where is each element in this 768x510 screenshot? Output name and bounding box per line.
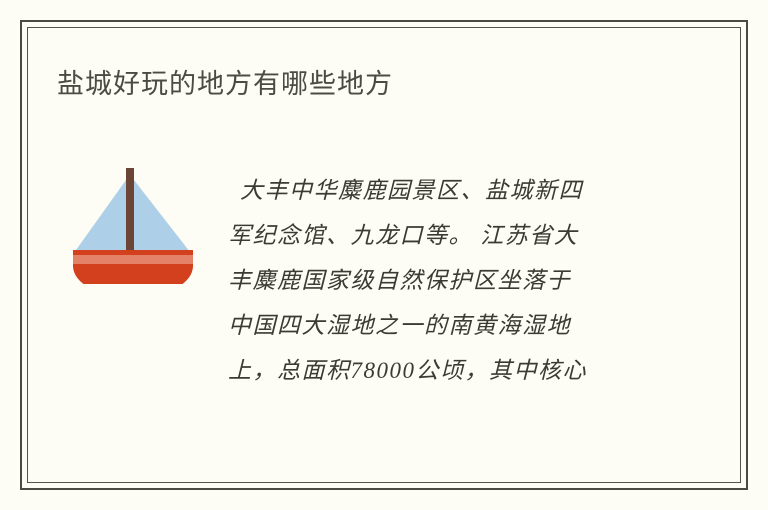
- body-line: 上，总面积78000公顷，其中核心: [228, 348, 660, 393]
- body-line: 丰麋鹿国家级自然保护区坐落于: [228, 258, 660, 303]
- body-line: 军纪念馆、九龙口等。 江苏省大: [228, 213, 660, 258]
- article-body: 大丰中华麋鹿园景区、盐城新四 军纪念馆、九龙口等。 江苏省大 丰麋鹿国家级自然保…: [228, 168, 660, 393]
- body-line: 中国四大湿地之一的南黄海湿地: [228, 303, 660, 348]
- sailboat-icon: [68, 162, 198, 284]
- body-line: 大丰中华麋鹿园景区、盐城新四: [228, 168, 660, 213]
- answer-card: 盐城好玩的地方有哪些地方 大丰中华麋鹿园景区、盐城新四 军纪念馆、九龙口等。 江…: [0, 0, 768, 510]
- page-title: 盐城好玩的地方有哪些地方: [57, 64, 393, 104]
